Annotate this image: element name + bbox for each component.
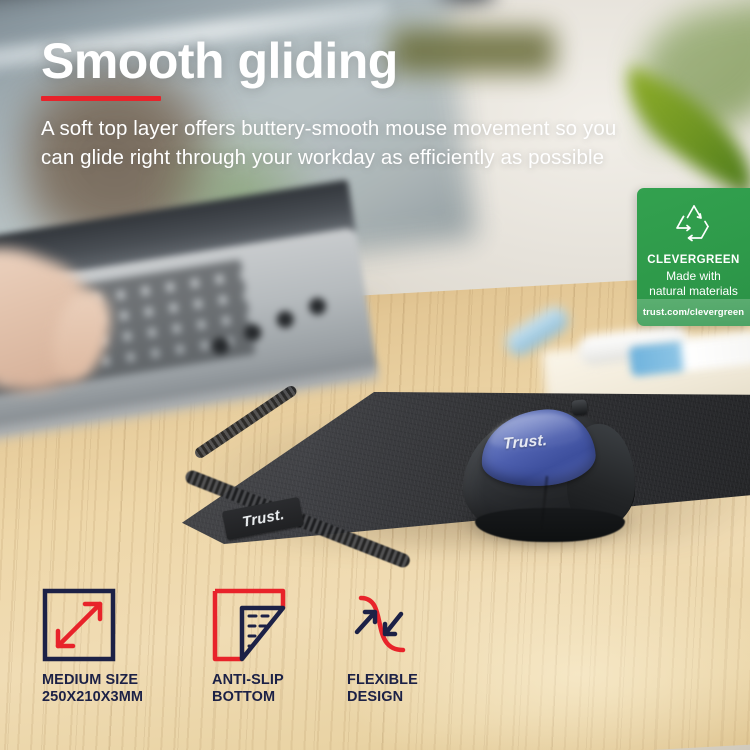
product-marketing-image: Trust. Trust. Smooth gliding A soft top … — [0, 0, 750, 750]
mouse-pad-brand-label: Trust. — [241, 506, 285, 531]
mouse-brand-label: Trust. — [503, 432, 548, 454]
s-curve-arrows-icon — [347, 588, 497, 662]
folded-corner-square-icon — [212, 588, 342, 662]
feature-label: MEDIUM SIZE 250X210X3MM — [42, 672, 202, 706]
feature-anti-slip: ANTI-SLIP BOTTOM — [212, 588, 342, 706]
mouse-scroll-wheel — [571, 399, 587, 415]
clevergreen-badge: CLEVERGREEN Made with natural materials … — [637, 188, 750, 326]
badge-url: trust.com/clevergreen — [643, 307, 744, 318]
recycling-triangle-icon — [670, 200, 718, 244]
diagonal-arrow-square-icon — [42, 588, 202, 662]
page-title: Smooth gliding — [41, 36, 398, 86]
feature-flexible-design: FLEXIBLE DESIGN — [347, 588, 497, 706]
badge-subtitle: Made with natural materials — [637, 269, 750, 298]
accent-rule — [41, 96, 161, 101]
badge-footer: trust.com/clevergreen — [637, 299, 750, 326]
feature-list: MEDIUM SIZE 250X210X3MM ANTI-SLIP BOTTOM — [0, 588, 750, 738]
feature-medium-size: MEDIUM SIZE 250X210X3MM — [42, 588, 202, 706]
badge-title: CLEVERGREEN — [637, 254, 750, 266]
feature-label: ANTI-SLIP BOTTOM — [212, 672, 342, 706]
body-copy: A soft top layer offers buttery-smooth m… — [41, 114, 641, 172]
feature-label: FLEXIBLE DESIGN — [347, 672, 497, 706]
computer-mouse: Trust. — [455, 398, 645, 558]
